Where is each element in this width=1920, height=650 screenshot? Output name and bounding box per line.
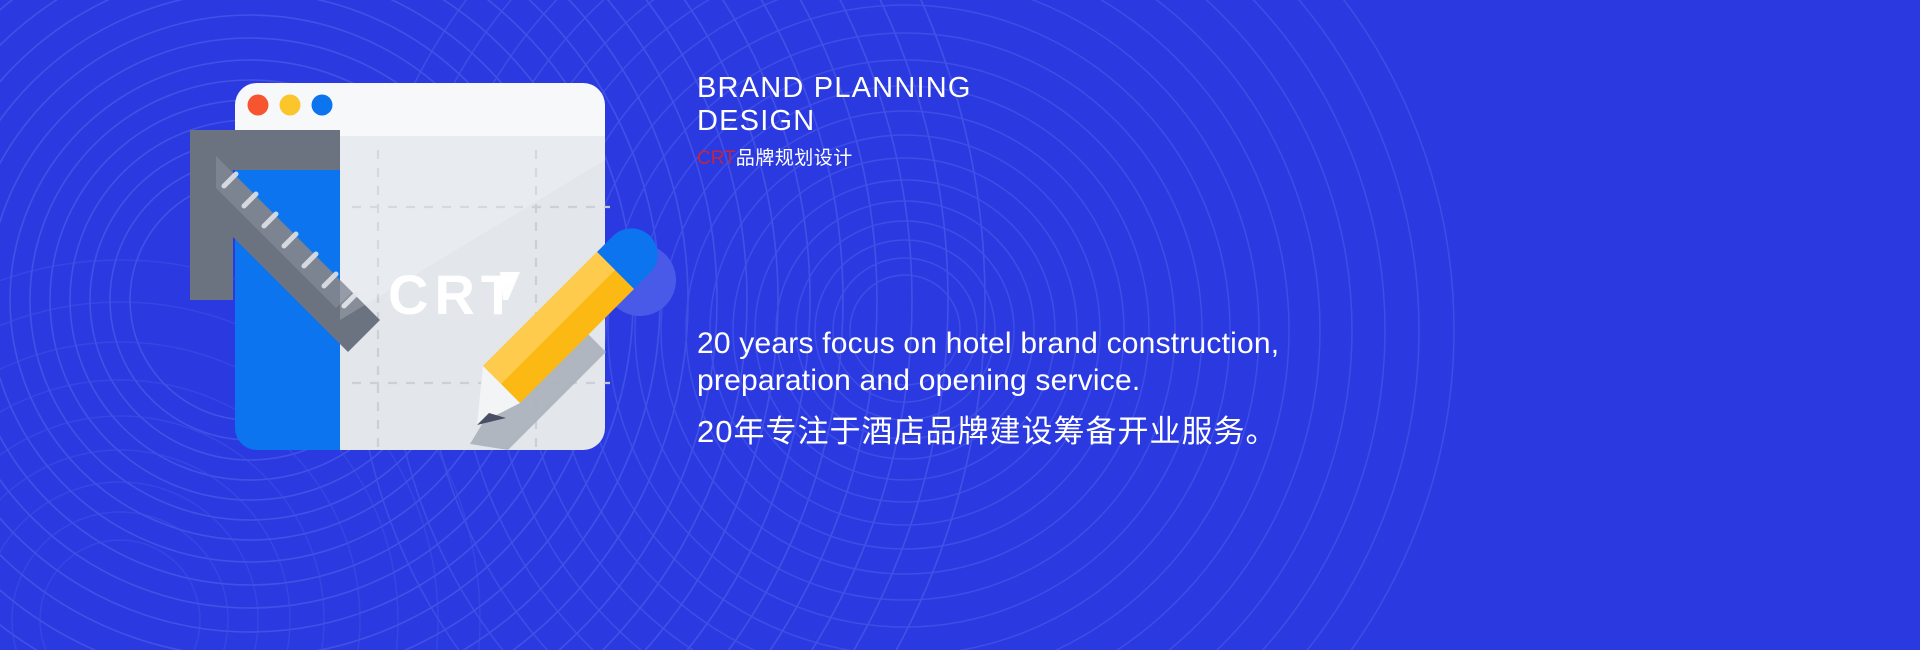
maximize-dot xyxy=(312,95,333,116)
minimize-dot xyxy=(280,95,301,116)
tagline-english: 20 years focus on hotel brand constructi… xyxy=(697,325,1397,399)
tagline-chinese: 20年专注于酒店品牌建设筹备开业服务。 xyxy=(697,413,1397,451)
brand-illustration: CRT xyxy=(0,0,700,650)
banner-content: BRAND PLANNING DESIGN CRT品牌规划设计 20 years… xyxy=(697,0,1817,650)
heading-chinese-text: 品牌规划设计 xyxy=(736,148,853,169)
heading-block: BRAND PLANNING DESIGN CRT品牌规划设计 xyxy=(697,72,1337,170)
heading-english: BRAND PLANNING DESIGN xyxy=(697,72,1337,138)
tagline-block: 20 years focus on hotel brand constructi… xyxy=(697,325,1397,451)
close-dot xyxy=(248,95,269,116)
heading-brand: CRT xyxy=(697,148,736,169)
heading-chinese: CRT品牌规划设计 xyxy=(697,147,1337,170)
brand-banner: CRT xyxy=(0,0,1920,650)
